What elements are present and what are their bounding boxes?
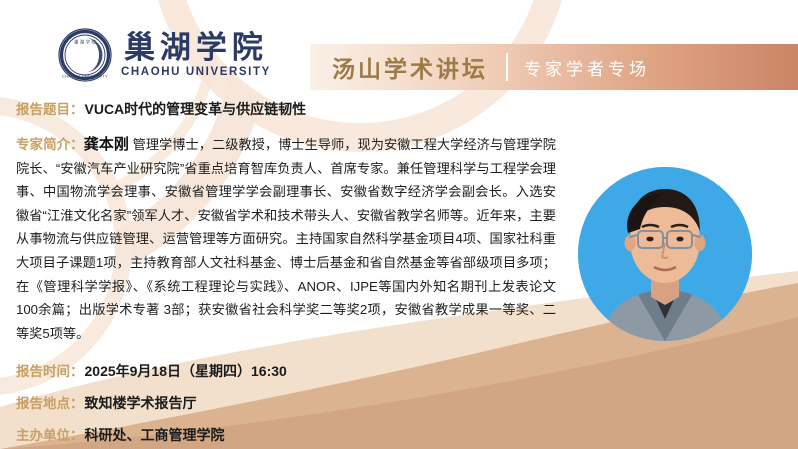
seminar-poster: 巢 湖 学 院 1977 CHAOHU UNIVERSITY 巢湖学院 CHAO… — [0, 0, 798, 449]
speaker-portrait-photo — [578, 167, 752, 341]
place-label: 报告地点： — [16, 392, 84, 412]
university-name-cn: 巢湖学院 — [124, 32, 268, 65]
speaker-bio-block: 专家简介：龚本刚 管理学博士，二级教授，博士生导师，现为安徽工程大学经济与管理学… — [16, 133, 556, 345]
organizer-value: 科研处、工商管理学院 — [85, 425, 225, 445]
topic-value: VUCA时代的管理变革与供应链韧性 — [85, 99, 307, 119]
chaohu-university-seal-icon: 巢 湖 学 院 1977 CHAOHU UNIVERSITY — [58, 28, 112, 82]
series-subtitle: 专家学者专场 — [524, 55, 650, 80]
svg-text:CHAOHU UNIVERSITY: CHAOHU UNIVERSITY — [62, 75, 108, 79]
topic-label: 报告题目： — [16, 98, 84, 118]
speaker-bio-text: 专家简介：龚本刚 管理学博士，二级教授，博士生导师，现为安徽工程大学经济与管理学… — [16, 133, 556, 345]
poster-header: 巢 湖 学 院 1977 CHAOHU UNIVERSITY 巢湖学院 CHAO… — [0, 0, 798, 96]
time-row: 报告时间： 2025年9月18日（星期四）16:30 — [16, 360, 287, 381]
band-divider-line — [506, 53, 508, 81]
topic-row: 报告题目： VUCA时代的管理变革与供应链韧性 — [16, 98, 306, 119]
organizer-label: 主办单位： — [16, 424, 84, 444]
series-title-band: 汤山学术讲坛 专家学者专场 — [310, 44, 798, 90]
place-row: 报告地点： 致知楼学术报告厅 — [16, 392, 197, 413]
place-value: 致知楼学术报告厅 — [85, 393, 197, 413]
university-logo: 巢 湖 学 院 1977 CHAOHU UNIVERSITY 巢湖学院 CHAO… — [58, 28, 271, 82]
bio-label: 专家简介： — [16, 137, 84, 152]
bio-body-text: 管理学博士，二级教授，博士生导师，现为安徽工程大学经济与管理学院院长、“安徽汽车… — [16, 137, 556, 341]
organizer-row: 主办单位： 科研处、工商管理学院 — [16, 424, 225, 445]
svg-text:1977: 1977 — [81, 67, 89, 71]
series-title: 汤山学术讲坛 — [332, 50, 488, 84]
university-name-en: CHAOHU UNIVERSITY — [121, 66, 271, 78]
speaker-name: 龚本刚 — [84, 136, 129, 153]
time-value: 2025年9月18日（星期四）16:30 — [85, 361, 287, 381]
svg-text:巢 湖 学 院: 巢 湖 学 院 — [74, 39, 96, 46]
time-label: 报告时间： — [16, 360, 84, 380]
university-wordmark: 巢湖学院 CHAOHU UNIVERSITY — [121, 32, 271, 79]
